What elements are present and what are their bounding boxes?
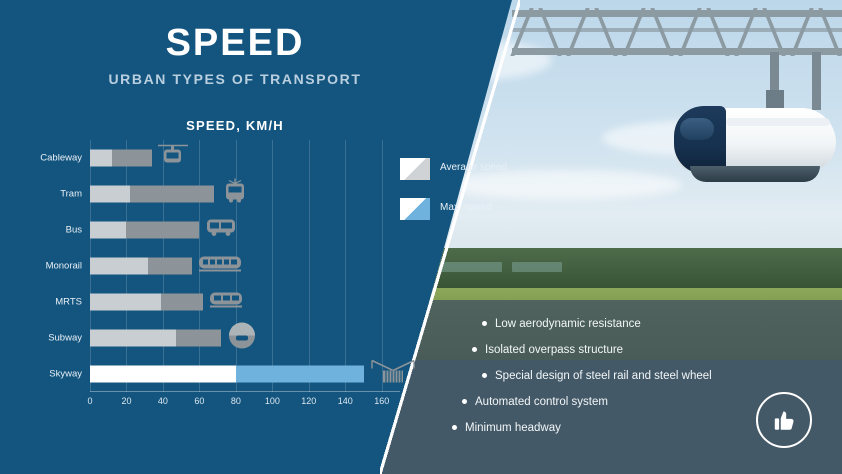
bar-group (90, 366, 364, 383)
x-axis-tick-label: 0 (87, 396, 92, 406)
bullet-dot (462, 399, 467, 404)
chart-gridline (309, 140, 310, 392)
bar-category-label: Cableway (20, 153, 82, 164)
skyway-icon (370, 357, 416, 392)
chart-gridline (345, 140, 346, 392)
chart-title: SPEED, KM/H (0, 118, 470, 133)
cableway-icon (158, 143, 188, 174)
page-title: SPEED (0, 22, 470, 65)
greenhouse-structure (512, 262, 562, 272)
skyway-truss (512, 4, 842, 64)
feature-item: Minimum headway (452, 422, 782, 434)
greenhouse-structure (432, 262, 502, 272)
thumbs-up-badge (756, 392, 812, 448)
bar-average-speed (90, 186, 130, 203)
x-axis-tick-label: 160 (374, 396, 389, 406)
bar-category-label: Monorail (20, 261, 82, 272)
legend-item: Max. speed (400, 198, 520, 238)
subway-icon (227, 321, 257, 356)
feature-item: Low aerodynamic resistance (482, 318, 782, 330)
bar-category-label: Skyway (20, 369, 82, 380)
feature-label: Automated control system (475, 396, 608, 408)
x-axis-tick-label: 140 (338, 396, 353, 406)
bar-group (90, 186, 214, 203)
bullet-dot (482, 373, 487, 378)
bar-group (90, 150, 152, 167)
chart-gridline (272, 140, 273, 392)
bar-category-label: Subway (20, 333, 82, 344)
bar-average-speed (90, 150, 112, 167)
bar-average-speed (90, 330, 176, 347)
chart-legend: Average speedMax. speed (400, 158, 520, 238)
infographic-root: SPEED URBAN TYPES OF TRANSPORT SPEED, KM… (0, 0, 842, 474)
bullet-dot (472, 347, 477, 352)
legend-swatch (400, 158, 430, 180)
bar-average-speed (90, 222, 126, 239)
x-axis-tick-label: 40 (158, 396, 168, 406)
bar-average-speed (90, 366, 236, 383)
bar-average-speed (90, 294, 161, 311)
legend-label: Max. speed (440, 202, 492, 213)
chart-plot-area: 020406080100120140160CablewayTramBusMono… (90, 140, 400, 392)
bar-group (90, 222, 199, 239)
bar-category-label: Bus (20, 225, 82, 236)
legend-swatch (400, 198, 430, 220)
bus-icon (205, 217, 237, 244)
thumbs-up-icon (771, 407, 797, 433)
monorail-icon (198, 253, 242, 280)
skyway-pod (674, 96, 836, 188)
tram-icon (220, 179, 250, 210)
x-axis-tick-label: 20 (121, 396, 131, 406)
x-axis-tick-label: 80 (231, 396, 241, 406)
x-axis-tick-label: 120 (301, 396, 316, 406)
feature-item: Isolated overpass structure (472, 344, 782, 356)
bar-category-label: MRTS (20, 297, 82, 308)
feature-label: Minimum headway (465, 422, 561, 434)
feature-item: Automated control system (462, 396, 782, 408)
feature-item: Special design of steel rail and steel w… (482, 370, 782, 382)
bar-category-label: Tram (20, 189, 82, 200)
page-subtitle: URBAN TYPES OF TRANSPORT (0, 71, 470, 87)
bar-group (90, 258, 192, 275)
x-axis-tick-label: 100 (265, 396, 280, 406)
chart-gridline (382, 140, 383, 392)
legend-label: Average speed (440, 162, 507, 173)
bar-group (90, 294, 203, 311)
mrts-icon (209, 289, 243, 316)
bullet-dot (452, 425, 457, 430)
feature-list: Low aerodynamic resistanceIsolated overp… (452, 318, 782, 448)
bar-average-speed (90, 258, 148, 275)
feature-label: Isolated overpass structure (485, 344, 623, 356)
x-axis-line (90, 391, 400, 392)
bar-group (90, 330, 221, 347)
feature-label: Low aerodynamic resistance (495, 318, 641, 330)
feature-label: Special design of steel rail and steel w… (495, 370, 712, 382)
legend-item: Average speed (400, 158, 520, 198)
speed-bar-chart: 020406080100120140160CablewayTramBusMono… (26, 140, 416, 410)
x-axis-tick-label: 60 (194, 396, 204, 406)
bullet-dot (482, 321, 487, 326)
